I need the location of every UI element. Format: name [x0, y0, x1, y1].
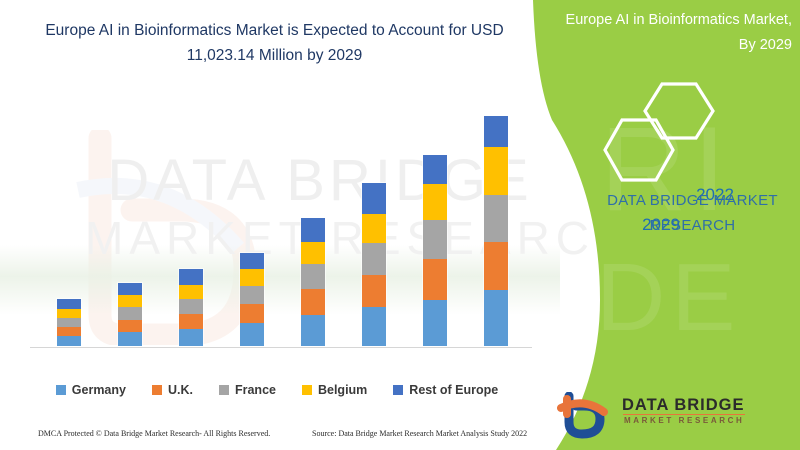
- panel-brand-line2: RESEARCH: [590, 213, 795, 238]
- bar-segment-u-k-[interactable]: [118, 320, 142, 333]
- bar-2028[interactable]: [422, 154, 448, 347]
- bar-segment-germany[interactable]: [240, 323, 264, 346]
- panel-title: Europe AI in Bioinformatics Market, By 2…: [548, 8, 792, 58]
- bar-segment-france[interactable]: [240, 286, 264, 304]
- bar-segment-rest-of-europe[interactable]: [118, 283, 142, 295]
- bar-segment-france[interactable]: [301, 264, 325, 289]
- bar-segment-germany[interactable]: [362, 307, 386, 346]
- company-logo: DATA BRIDGE MARKET RESEARCH: [556, 392, 786, 440]
- bar-segment-france[interactable]: [362, 243, 386, 275]
- data-bridge-b-icon: [556, 392, 616, 440]
- panel-brand-text: DATA BRIDGE MARKET RESEARCH: [590, 188, 795, 238]
- svg-text:DE: DE: [596, 244, 741, 351]
- bar-segment-rest-of-europe[interactable]: [240, 253, 264, 269]
- legend-label-germany: Germany: [72, 383, 126, 397]
- bar-segment-france[interactable]: [484, 195, 508, 242]
- bar-segment-rest-of-europe[interactable]: [57, 299, 81, 309]
- logo-name: DATA BRIDGE: [622, 396, 745, 415]
- legend-item-france[interactable]: France: [219, 383, 276, 397]
- legend-swatch-belgium: [302, 385, 312, 395]
- infographic-canvas: DATA BRIDGE MARKET RESEARCH Europe AI in…: [0, 0, 800, 450]
- bar-segment-germany[interactable]: [423, 300, 447, 347]
- bar-segment-france[interactable]: [423, 220, 447, 259]
- bar-segment-u-k-[interactable]: [362, 275, 386, 308]
- logo-tagline: MARKET RESEARCH: [624, 416, 744, 425]
- bar-segment-u-k-[interactable]: [179, 314, 203, 330]
- bar-segment-belgium[interactable]: [423, 184, 447, 221]
- bar-2023[interactable]: [117, 282, 143, 347]
- legend-item-rest-of-europe[interactable]: Rest of Europe: [393, 383, 498, 397]
- bar-series-container: [22, 96, 532, 347]
- bar-2027[interactable]: [361, 182, 387, 347]
- bar-segment-u-k-[interactable]: [423, 259, 447, 300]
- legend-item-germany[interactable]: Germany: [56, 383, 126, 397]
- bar-segment-u-k-[interactable]: [240, 304, 264, 324]
- chart-legend: GermanyU.K.FranceBelgiumRest of Europe: [22, 380, 532, 400]
- legend-swatch-france: [219, 385, 229, 395]
- bar-2024[interactable]: [178, 268, 204, 347]
- bar-segment-belgium[interactable]: [240, 269, 264, 287]
- bar-segment-belgium[interactable]: [484, 147, 508, 196]
- bar-segment-u-k-[interactable]: [57, 327, 81, 337]
- footer-copyright: DMCA Protected © Data Bridge Market Rese…: [38, 429, 270, 438]
- legend-label-u-k-: U.K.: [168, 383, 193, 397]
- bar-segment-rest-of-europe[interactable]: [179, 269, 203, 285]
- hexagon-shapes-icon: [600, 78, 790, 188]
- bar-2022[interactable]: [56, 298, 82, 347]
- bar-segment-germany[interactable]: [301, 315, 325, 347]
- bar-2026[interactable]: [300, 217, 326, 347]
- bar-segment-rest-of-europe[interactable]: [362, 183, 386, 214]
- bar-segment-germany[interactable]: [118, 332, 142, 346]
- bar-segment-belgium[interactable]: [118, 295, 142, 308]
- bar-2029[interactable]: [483, 115, 509, 347]
- legend-swatch-u-k-: [152, 385, 162, 395]
- legend-label-belgium: Belgium: [318, 383, 367, 397]
- bar-segment-u-k-[interactable]: [301, 289, 325, 315]
- bar-segment-belgium[interactable]: [179, 285, 203, 300]
- footer-source: Source: Data Bridge Market Research Mark…: [312, 429, 527, 438]
- bar-segment-germany[interactable]: [57, 336, 81, 346]
- panel-brand-line1: DATA BRIDGE MARKET: [590, 188, 795, 213]
- bar-segment-france[interactable]: [118, 307, 142, 320]
- bar-segment-rest-of-europe[interactable]: [423, 155, 447, 184]
- legend-label-france: France: [235, 383, 276, 397]
- legend-label-rest-of-europe: Rest of Europe: [409, 383, 498, 397]
- legend-item-u-k-[interactable]: U.K.: [152, 383, 193, 397]
- legend-swatch-rest-of-europe: [393, 385, 403, 395]
- bar-segment-germany[interactable]: [484, 290, 508, 346]
- bar-segment-belgium[interactable]: [301, 242, 325, 265]
- stacked-bar-chart: 20222023202420252026202720282029: [22, 96, 532, 348]
- bar-segment-france[interactable]: [57, 318, 81, 327]
- bar-segment-france[interactable]: [179, 299, 203, 314]
- legend-swatch-germany: [56, 385, 66, 395]
- bar-segment-rest-of-europe[interactable]: [301, 218, 325, 242]
- bar-segment-u-k-[interactable]: [484, 242, 508, 291]
- page-title: Europe AI in Bioinformatics Market is Ex…: [22, 18, 527, 68]
- legend-item-belgium[interactable]: Belgium: [302, 383, 367, 397]
- bar-segment-rest-of-europe[interactable]: [484, 116, 508, 147]
- bar-segment-belgium[interactable]: [57, 309, 81, 319]
- bar-segment-germany[interactable]: [179, 329, 203, 346]
- bar-2025[interactable]: [239, 252, 265, 347]
- bar-segment-belgium[interactable]: [362, 214, 386, 244]
- x-axis-line: [30, 347, 532, 348]
- hexagon-group: 2022 2029: [600, 78, 790, 188]
